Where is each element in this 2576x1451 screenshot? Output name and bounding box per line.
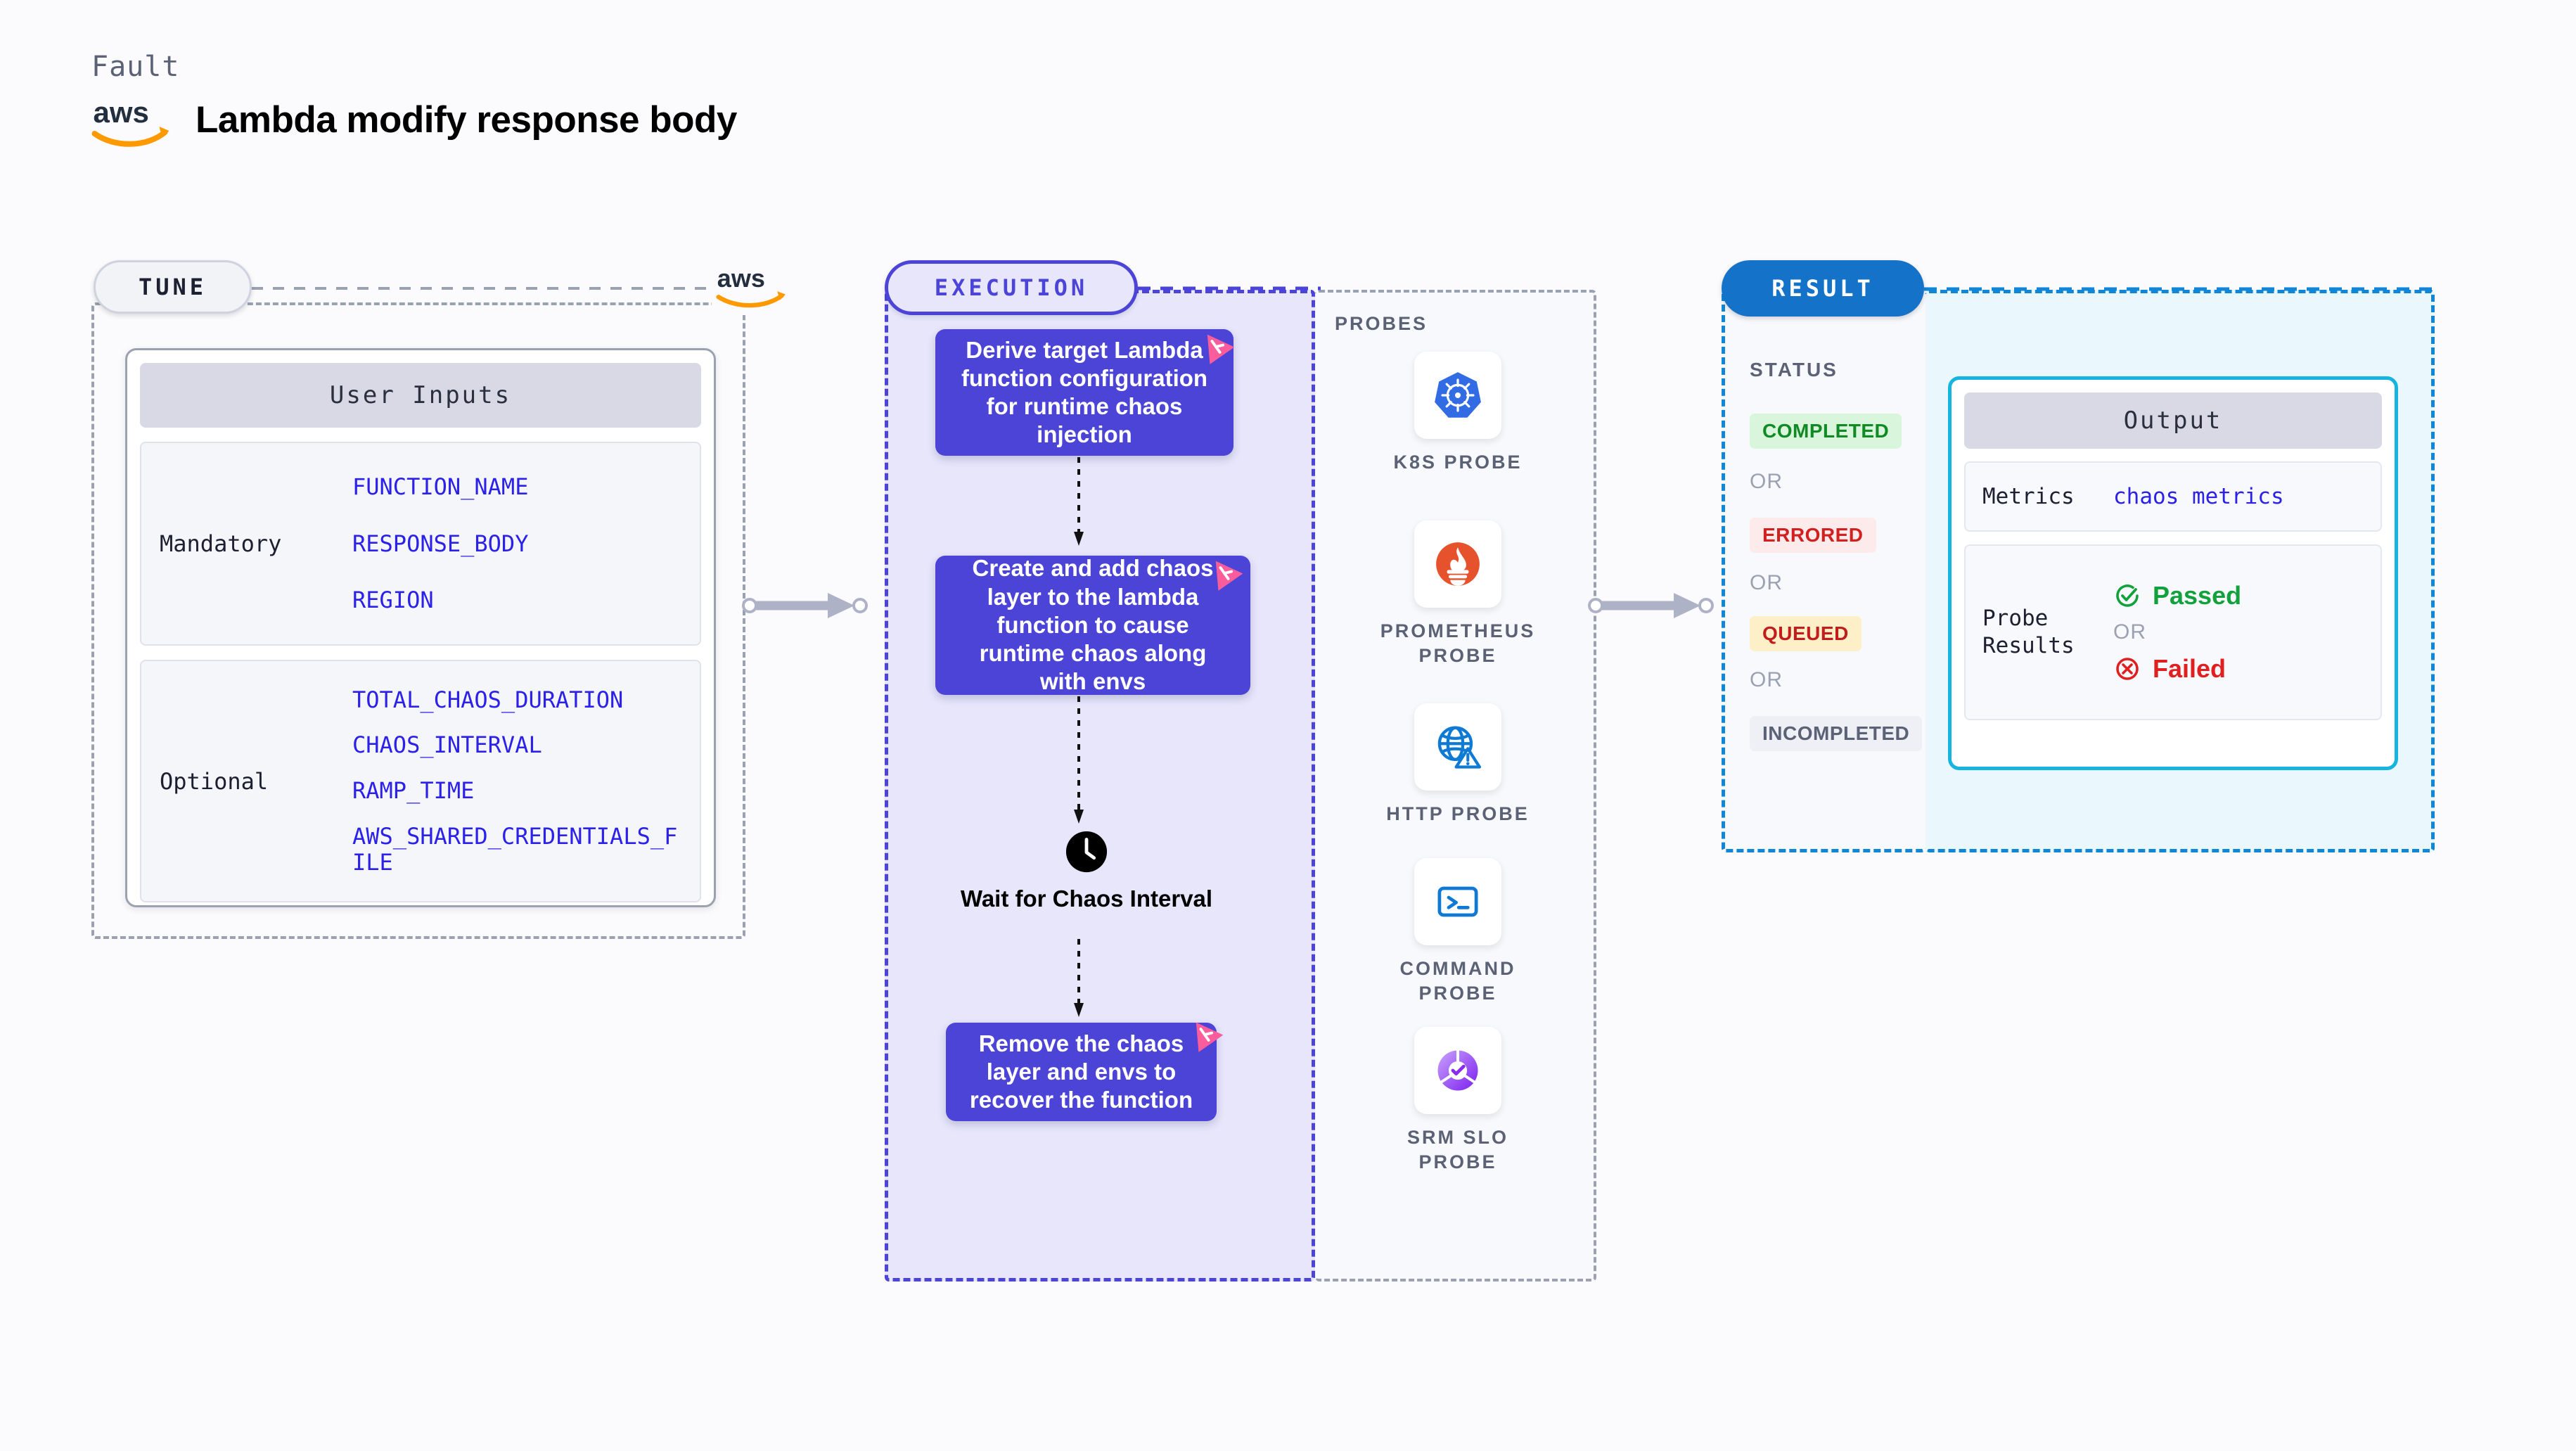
- output-card: Output Metrics chaos metrics ProbeResult…: [1948, 376, 2398, 770]
- tune-dash-connector: [252, 285, 730, 292]
- probe-label: PROMETHEUS PROBE: [1370, 619, 1546, 668]
- prometheus-icon: [1414, 520, 1501, 608]
- metrics-value[interactable]: chaos metrics: [2113, 484, 2284, 509]
- mandatory-inputs-group: Mandatory FUNCTION_NAME RESPONSE_BODY RE…: [140, 442, 701, 646]
- input-var[interactable]: FUNCTION_NAME: [352, 474, 528, 500]
- passed-label: Passed: [2153, 581, 2241, 611]
- status-badge: COMPLETED: [1750, 414, 1902, 449]
- status-badge-label: COMPLETED: [1750, 414, 1902, 449]
- probe-item-http[interactable]: HTTP PROBE: [1370, 703, 1546, 826]
- terminal-icon: [1414, 858, 1501, 945]
- status-title: STATUS: [1750, 359, 1838, 381]
- optional-inputs-group: Optional TOTAL_CHAOS_DURATION CHAOS_INTE…: [140, 660, 701, 902]
- clock-icon: [1065, 830, 1108, 874]
- optional-var-list: TOTAL_CHAOS_DURATION CHAOS_INTERVAL RAMP…: [352, 687, 683, 876]
- probe-label: SRM SLO PROBE: [1370, 1125, 1546, 1175]
- globe-warning-icon: [1414, 703, 1501, 791]
- page-title: Lambda modify response body: [196, 98, 737, 141]
- probe-result-failed: Failed: [2113, 654, 2241, 684]
- status-or: OR: [1750, 668, 1783, 692]
- wait-for-chaos-interval-label: Wait for Chaos Interval: [953, 885, 1220, 913]
- failed-label: Failed: [2153, 654, 2226, 684]
- diagram-canvas: Fault aws Lambda modify response body TU…: [0, 0, 2576, 1451]
- litmus-chaos-icon: [1196, 326, 1236, 367]
- result-dash-connector: [1924, 286, 2437, 293]
- result-pill[interactable]: RESULT: [1722, 260, 1924, 317]
- check-circle-icon: [2113, 582, 2141, 610]
- step-connector-arrow: [1074, 696, 1084, 826]
- x-circle-icon: [2113, 655, 2141, 683]
- execution-to-result-arrow: [1588, 589, 1722, 622]
- status-or: OR: [1750, 470, 1783, 494]
- tune-to-execution-arrow: [742, 589, 876, 622]
- aws-logo-tune: aws: [712, 259, 796, 315]
- input-var[interactable]: RESPONSE_BODY: [352, 531, 528, 557]
- probe-item-prometheus[interactable]: PROMETHEUS PROBE: [1370, 520, 1546, 668]
- probe-item-command[interactable]: COMMAND PROBE: [1370, 858, 1546, 1006]
- metrics-key: Metrics: [1966, 483, 2113, 511]
- status-badge: QUEUED: [1750, 616, 1861, 651]
- input-var[interactable]: RAMP_TIME: [352, 778, 683, 804]
- probe-results-key: ProbeResults: [1966, 605, 2113, 660]
- probe-result-passed: Passed: [2113, 581, 2241, 611]
- aws-logo: aws: [90, 94, 178, 151]
- user-inputs-title: User Inputs: [140, 363, 701, 428]
- execution-step[interactable]: Create and add chaos layer to the lambda…: [935, 556, 1250, 695]
- probe-item-srm-slo[interactable]: SRM SLO PROBE: [1370, 1027, 1546, 1175]
- execution-pill[interactable]: EXECUTION: [885, 260, 1138, 315]
- svg-text:aws: aws: [717, 264, 765, 293]
- user-inputs-card: User Inputs Mandatory FUNCTION_NAME RESP…: [125, 348, 716, 907]
- execution-step[interactable]: Derive target Lambda function configurat…: [935, 329, 1233, 456]
- execution-dash-connector: [1138, 285, 1321, 292]
- status-or: OR: [1750, 571, 1783, 595]
- output-title: Output: [1964, 392, 2382, 449]
- status-badge-label: ERRORED: [1750, 518, 1876, 553]
- step-connector-arrow: [1074, 939, 1084, 1020]
- probe-label: HTTP PROBE: [1370, 802, 1546, 826]
- step-connector-arrow: [1074, 457, 1084, 549]
- kubernetes-icon: [1414, 352, 1501, 439]
- input-var[interactable]: CHAOS_INTERVAL: [352, 732, 683, 758]
- litmus-chaos-icon: [1204, 553, 1245, 594]
- mandatory-var-list: FUNCTION_NAME RESPONSE_BODY REGION: [352, 474, 528, 613]
- probes-title: PROBES: [1335, 313, 1428, 335]
- tune-pill[interactable]: TUNE: [94, 260, 252, 314]
- status-badge: INCOMPLETED: [1750, 716, 1922, 751]
- input-var[interactable]: TOTAL_CHAOS_DURATION: [352, 687, 683, 713]
- output-probe-results-row: ProbeResults Passed OR Failed: [1964, 544, 2382, 720]
- slo-donut-icon: [1414, 1027, 1501, 1114]
- status-badge-label: INCOMPLETED: [1750, 716, 1922, 751]
- status-badge: ERRORED: [1750, 518, 1876, 553]
- status-badge-label: QUEUED: [1750, 616, 1861, 651]
- probe-item-k8s[interactable]: K8S PROBE: [1370, 352, 1546, 475]
- optional-label: Optional: [141, 768, 352, 795]
- probe-result-or: OR: [2113, 620, 2241, 644]
- svg-text:aws: aws: [94, 96, 149, 129]
- probe-label: COMMAND PROBE: [1370, 957, 1546, 1006]
- fault-kicker: Fault: [91, 51, 179, 83]
- input-var[interactable]: REGION: [352, 587, 528, 613]
- input-var[interactable]: AWS_SHARED_CREDENTIALS_FILE: [352, 824, 683, 876]
- probe-label: K8S PROBE: [1370, 450, 1546, 475]
- execution-step[interactable]: Remove the chaos layer and envs to recov…: [946, 1023, 1217, 1121]
- mandatory-label: Mandatory: [141, 530, 352, 557]
- litmus-chaos-icon: [1184, 1014, 1225, 1055]
- output-metrics-row: Metrics chaos metrics: [1964, 461, 2382, 532]
